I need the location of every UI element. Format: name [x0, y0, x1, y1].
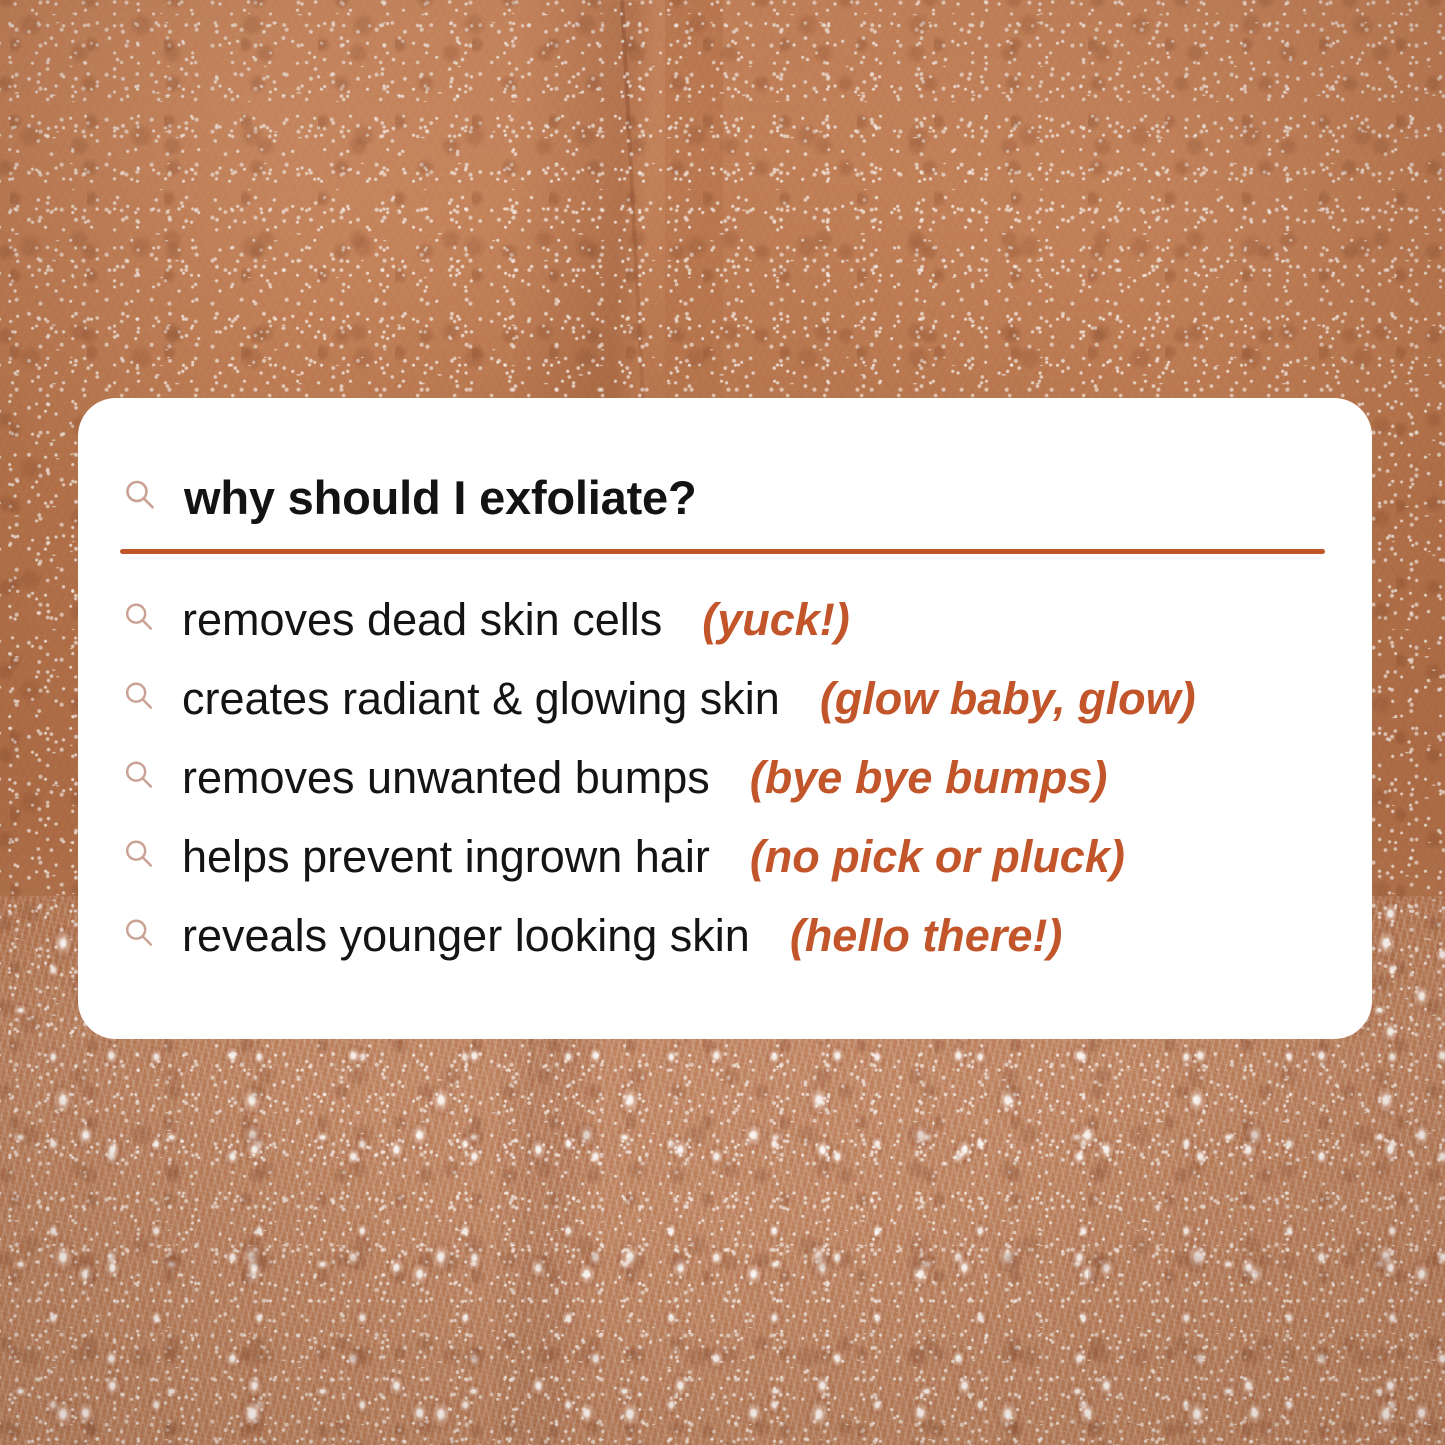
benefit-aside: (no pick or pluck)	[750, 834, 1125, 879]
benefit-aside: (glow baby, glow)	[820, 676, 1196, 721]
search-icon	[122, 679, 156, 718]
benefit-label: reveals younger looking skin	[182, 913, 750, 958]
benefit-aside: (hello there!)	[790, 913, 1063, 958]
page-title: why should I exfoliate?	[184, 474, 696, 521]
search-icon	[122, 477, 158, 518]
benefit-aside: (bye bye bumps)	[750, 755, 1108, 800]
list-item: creates radiant & glowing skin (glow bab…	[118, 659, 1322, 738]
search-icon	[122, 837, 156, 876]
list-item: removes unwanted bumps (bye bye bumps)	[118, 738, 1322, 817]
benefit-label: helps prevent ingrown hair	[182, 834, 710, 879]
benefit-list: removes dead skin cells (yuck!) creates …	[118, 580, 1322, 975]
benefit-label: creates radiant & glowing skin	[182, 676, 780, 721]
list-item: reveals younger looking skin (hello ther…	[118, 896, 1322, 975]
search-icon	[122, 600, 156, 639]
header-divider	[120, 549, 1325, 554]
list-item: removes dead skin cells (yuck!)	[118, 580, 1322, 659]
benefit-label: removes unwanted bumps	[182, 755, 710, 800]
list-item: helps prevent ingrown hair (no pick or p…	[118, 817, 1322, 896]
page-root: why should I exfoliate? removes dead ski…	[0, 0, 1445, 1445]
benefit-label: removes dead skin cells	[182, 597, 662, 642]
info-card: why should I exfoliate? removes dead ski…	[78, 398, 1372, 1039]
search-icon	[122, 916, 156, 955]
search-icon	[122, 758, 156, 797]
card-header: why should I exfoliate?	[118, 474, 1322, 521]
benefit-aside: (yuck!)	[702, 597, 850, 642]
